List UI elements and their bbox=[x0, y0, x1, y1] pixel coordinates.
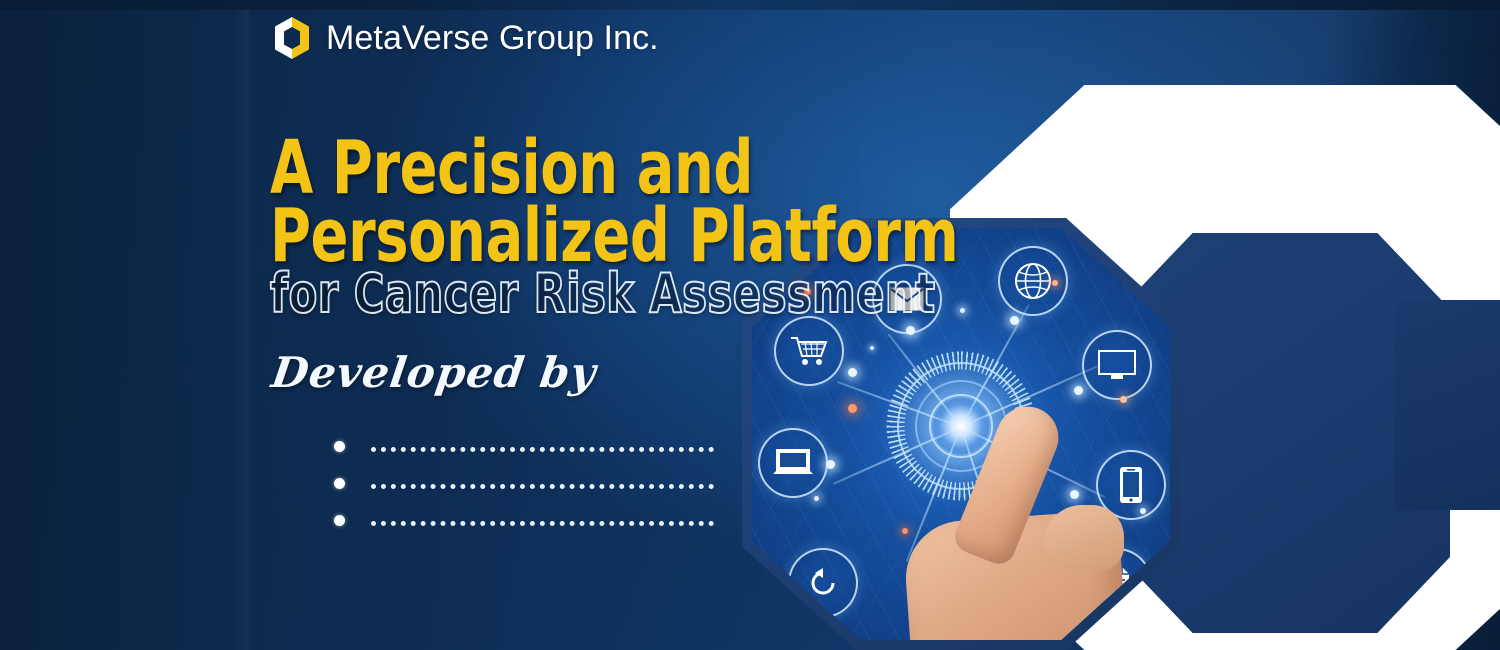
navy-corner-wedge bbox=[1395, 300, 1500, 510]
background-left-band bbox=[0, 0, 250, 650]
brand-name: MetaVerse Group Inc. bbox=[326, 19, 659, 58]
bullet-icon bbox=[334, 441, 345, 452]
page-title-line-2: Personalized Platform bbox=[270, 202, 858, 270]
presentation-title-slide: MetaVerse Group Inc. A Precision and Per… bbox=[0, 0, 1500, 650]
page-title: A Precision and Personalized Platform bbox=[270, 134, 858, 270]
list-item: ........................................… bbox=[334, 502, 714, 539]
page-title-line-1: A Precision and bbox=[270, 134, 858, 202]
author-name-placeholder[interactable]: ........................................… bbox=[371, 479, 714, 489]
brand-logo: MetaVerse Group Inc. bbox=[272, 16, 659, 60]
list-item: ........................................… bbox=[334, 428, 714, 465]
bullet-icon bbox=[334, 515, 345, 526]
author-name-placeholder[interactable]: ........................................… bbox=[371, 516, 714, 526]
background-top-strip bbox=[0, 0, 1500, 10]
bullet-icon bbox=[334, 478, 345, 489]
list-item: ........................................… bbox=[334, 465, 714, 502]
page-subtitle: for Cancer Risk Assessment bbox=[270, 262, 936, 325]
hexagon-s-logo-icon bbox=[272, 16, 312, 60]
author-list: ........................................… bbox=[334, 428, 714, 539]
author-name-placeholder[interactable]: ........................................… bbox=[371, 442, 714, 452]
developed-by-heading: Developed by bbox=[269, 348, 600, 397]
